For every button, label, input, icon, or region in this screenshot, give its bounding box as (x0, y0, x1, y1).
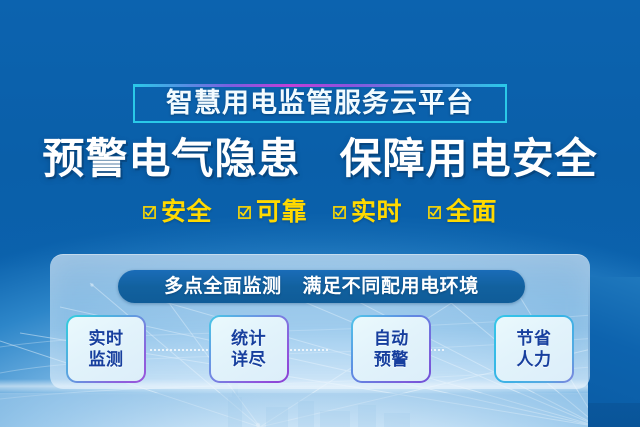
card-line-1: 统计 (231, 329, 266, 348)
feature-label: 全面 (446, 200, 497, 225)
checkbox-checked-icon (238, 206, 251, 219)
capability-card-detailed-statistics[interactable]: 统计 详尽 (209, 315, 289, 383)
feature-label: 实时 (351, 200, 402, 225)
capability-card-realtime-monitoring[interactable]: 实时 监测 (66, 315, 146, 383)
platform-title-box: 智慧用电监管服务云平台 (133, 84, 507, 123)
feature-list: 安全 可靠 实时 (0, 200, 640, 225)
checkbox-checked-icon (333, 206, 346, 219)
right-accent-block-shadow (588, 403, 640, 427)
card-line-1: 自动 (374, 329, 409, 348)
card-line-2: 人力 (516, 350, 551, 369)
badge-part-1: 多点全面监测 (164, 276, 282, 297)
ground-band (0, 393, 640, 427)
card-line-2: 详尽 (231, 350, 266, 369)
feature-item-realtime: 实时 (333, 200, 402, 225)
checkbox-checked-icon (143, 206, 156, 219)
page-title: 预警电气隐患 保障用电安全 (0, 136, 640, 182)
feature-item-safe: 安全 (143, 200, 212, 225)
capability-card-list: 实时 监测 统计 详尽 自动 预警 节省 人力 (66, 315, 574, 383)
capability-card-labor-saving[interactable]: 节省 人力 (494, 315, 574, 383)
feature-item-reliable: 可靠 (238, 200, 307, 225)
headline-part-1: 预警电气隐患 (42, 135, 300, 182)
headline-part-2: 保障用电安全 (340, 135, 598, 182)
card-inner: 节省 人力 (496, 317, 572, 381)
feature-item-comprehensive: 全面 (428, 200, 497, 225)
promo-banner: 智慧用电监管服务云平台 预警电气隐患 保障用电安全 安全 可 (0, 0, 640, 427)
monitoring-badge-text: 多点全面监测 满足不同配用电环境 (164, 277, 479, 296)
card-inner: 自动 预警 (353, 317, 429, 381)
feature-label: 可靠 (256, 200, 307, 225)
card-line-1: 节省 (516, 329, 551, 348)
monitoring-badge: 多点全面监测 满足不同配用电环境 (118, 270, 525, 303)
card-inner: 实时 监测 (68, 317, 144, 381)
capability-card-automatic-alarm[interactable]: 自动 预警 (351, 315, 431, 383)
feature-label: 安全 (161, 200, 212, 225)
card-inner: 统计 详尽 (211, 317, 287, 381)
checkbox-checked-icon (428, 206, 441, 219)
platform-title-text: 智慧用电监管服务云平台 (166, 90, 474, 117)
card-line-1: 实时 (89, 329, 124, 348)
badge-part-2: 满足不同配用电环境 (302, 276, 478, 297)
card-line-2: 监测 (89, 350, 124, 369)
card-line-2: 预警 (374, 350, 409, 369)
